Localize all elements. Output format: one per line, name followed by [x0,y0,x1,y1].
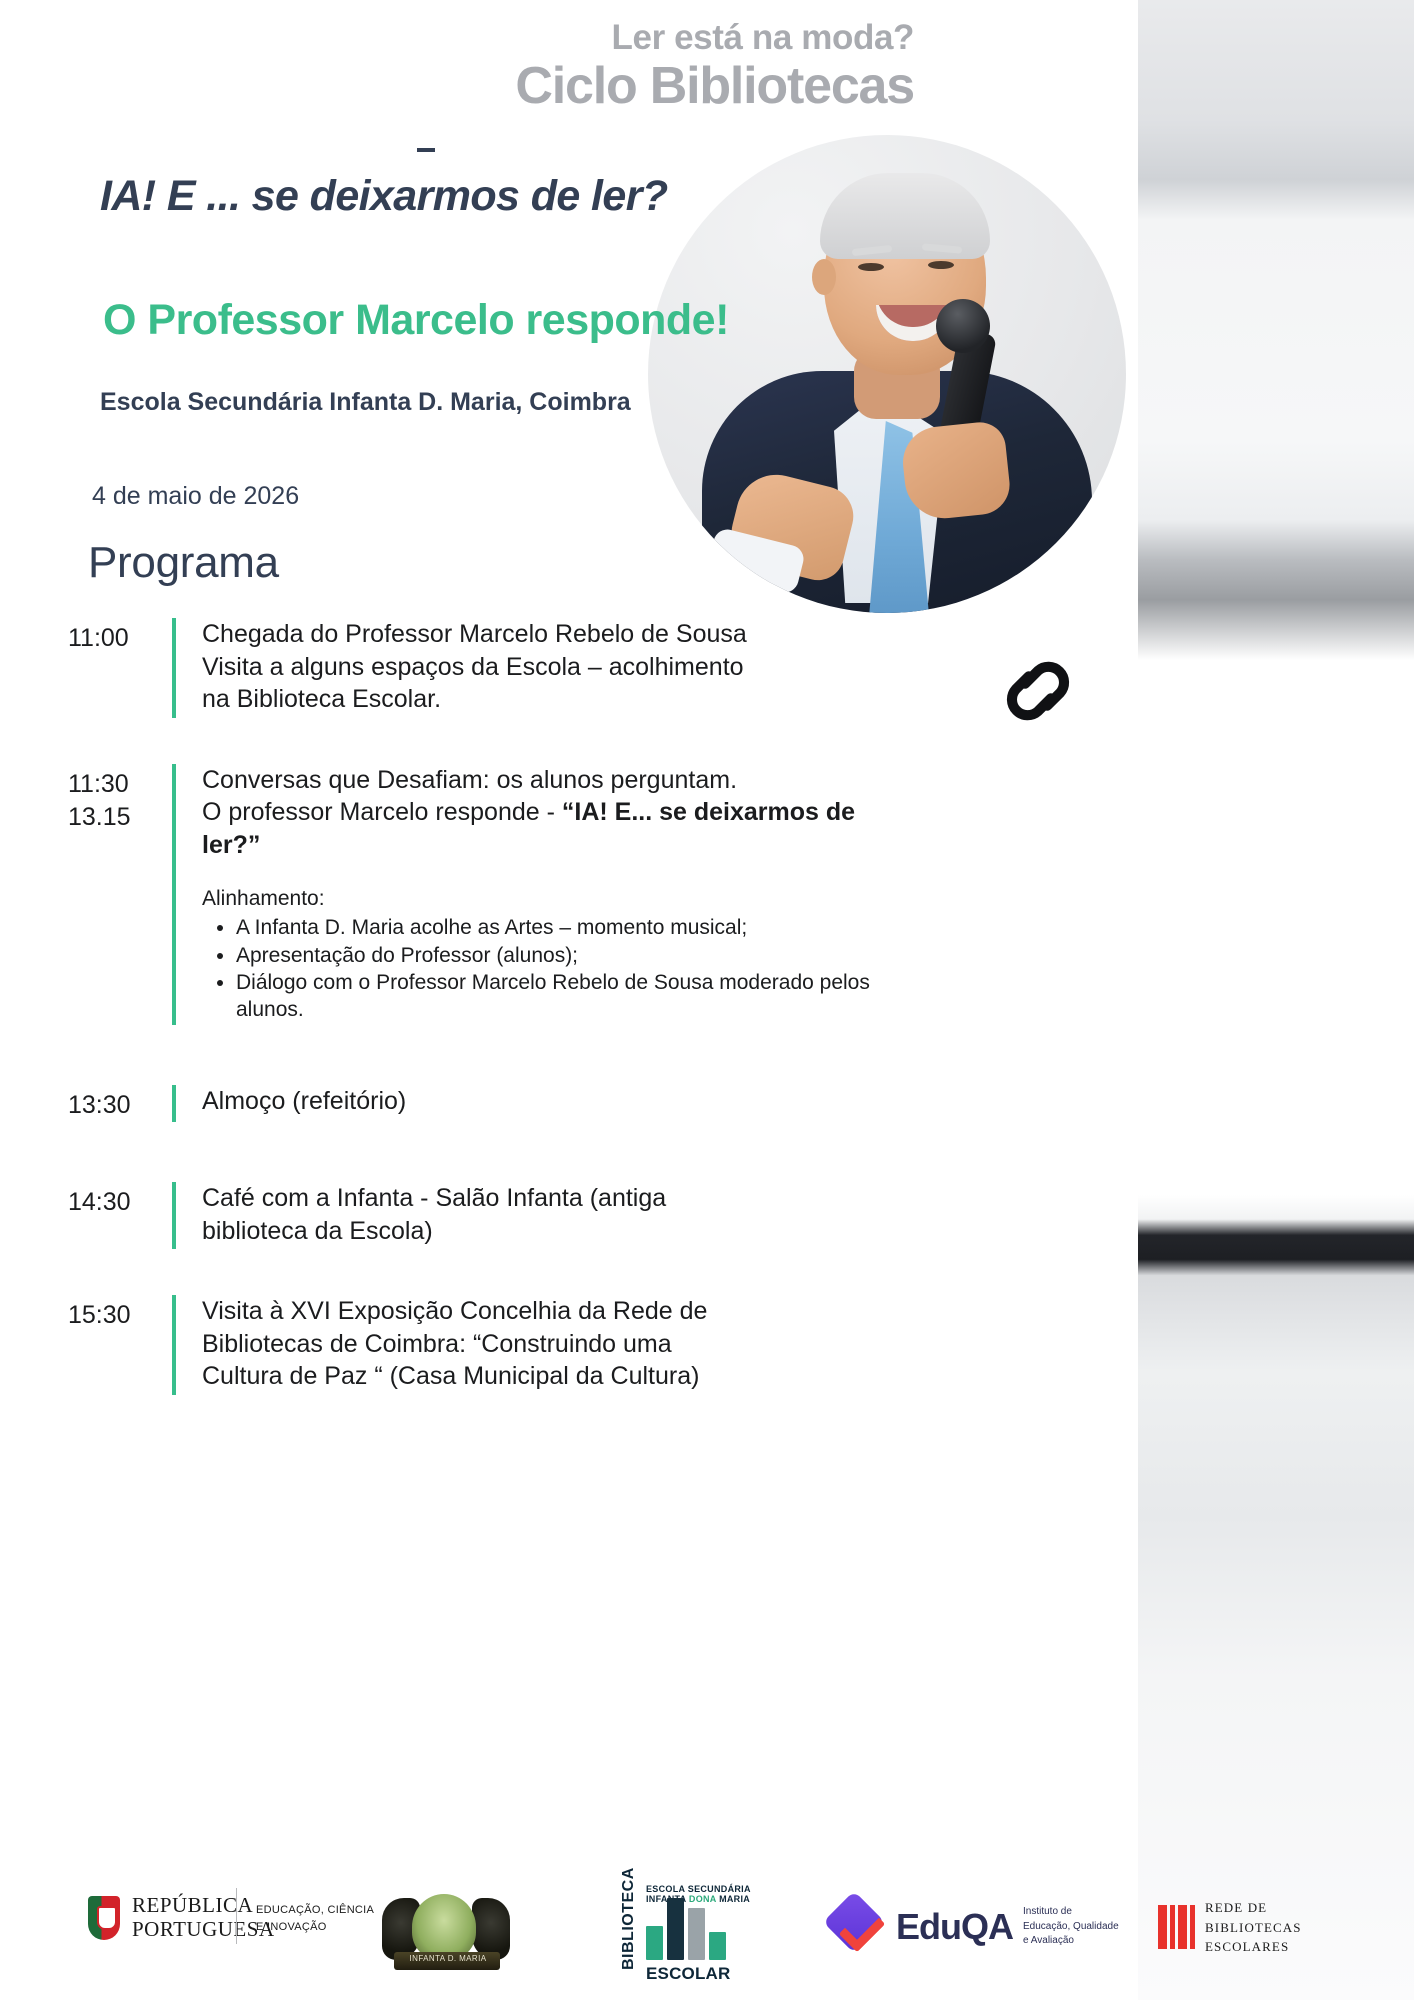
escolar-word: ESCOLAR [646,1964,731,1984]
series-kicker: Ler está na moda? [612,18,914,58]
venue-name: Escola Secundária Infanta D. Maria, Coim… [100,386,660,419]
schedule-time: 14:30 [60,1182,172,1219]
rbe-bar-4 [1190,1905,1195,1949]
schedule-time: 15:30 [60,1295,172,1332]
poster-accent-title: O Professor Marcelo responde! [103,296,729,345]
rbe-bar-3 [1178,1905,1187,1949]
schedule-description: Café com a Infanta - Salão Infanta (anti… [202,1182,910,1249]
schedule-line: biblioteca da Escola) [202,1215,910,1248]
crest-label: INFANTA D. MARIA [400,1954,496,1963]
republica-line2: PORTUGUESA [132,1918,275,1942]
eduqa-subtitle: Instituto de Educação, Qualidade e Avali… [1023,1905,1119,1949]
schedule-line: na Biblioteca Escolar. [202,683,910,716]
logo-school-crest: INFANTA D. MARIA [382,1886,512,1982]
portrait-hair [820,173,990,259]
schedule-time-start: 11:30 [68,768,172,801]
bar-3 [688,1908,705,1960]
rbe-mark-icon [1158,1905,1195,1949]
rbe-line3: ESCOLARES [1205,1937,1302,1957]
schedule-description: Chegada do Professor Marcelo Rebelo de S… [202,618,910,718]
schedule-row-1530: 15:30 Visita à XVI Exposição Concelhia d… [60,1295,910,1395]
list-item: Diálogo com o Professor Marcelo Rebelo d… [236,969,910,1024]
event-date: 4 de maio de 2026 [92,482,299,511]
ministry-line1: EDUCAÇÃO, CIÊNCIA [256,1902,374,1919]
timeline-bar [172,1182,176,1249]
program-schedule: 11:00 Chegada do Professor Marcelo Rebel… [60,618,910,1395]
alinhamento-list: A Infanta D. Maria acolhe as Artes – mom… [236,914,910,1023]
bar-1 [646,1926,663,1960]
footer-logos: REPÚBLICA PORTUGUESA EDUCAÇÃO, CIÊNCIA E… [0,1882,1414,2000]
schedule-line: Almoço (refeitório) [202,1085,910,1118]
schedule-spacer [60,718,910,764]
eduqa-sub2: Educação, Qualidade [1023,1920,1119,1935]
poster-main-title: IA! E ... se deixarmos de ler? [100,172,668,221]
rbe-bar-1 [1158,1905,1167,1949]
ministry-line2: E INOVAÇÃO [256,1919,374,1936]
schedule-row-1130: 11:30 13.15 Conversas que Desafiam: os a… [60,764,910,1026]
portrait-hand-right [899,420,1012,522]
eduqa-check-icon [828,1898,890,1956]
eduqa-sub3: e Avaliação [1023,1934,1119,1949]
timeline-bar [172,764,176,1026]
schedule-line: Bibliotecas de Coimbra: “Construindo uma [202,1328,910,1361]
rbe-wordmark: REDE DE BIBLIOTECAS ESCOLARES [1205,1898,1302,1957]
crest-dragon-right [472,1898,510,1960]
schedule-spacer [60,1122,910,1182]
list-item: A Infanta D. Maria acolhe as Artes – mom… [236,914,910,941]
series-title: Ciclo Bibliotecas [515,56,914,116]
portrait-eye-left [858,263,884,271]
schedule-line: Chegada do Professor Marcelo Rebelo de S… [202,618,910,651]
schedule-description: Conversas que Desafiam: os alunos pergun… [202,764,910,1026]
schedule-time: 11:30 13.15 [60,764,172,834]
poster-canvas: Ler está na moda? Ciclo Bibliotecas IA! … [0,0,1414,2000]
schedule-spacer [60,1025,910,1085]
speaker-portrait [648,135,1126,613]
logo-biblioteca-escolar: BIBLIOTECA ESCOLA SECUNDÁRIA INFANTA DON… [620,1884,780,1984]
logo-rede-bibliotecas-escolares: REDE DE BIBLIOTECAS ESCOLARES [1158,1898,1302,1957]
biblioteca-bars-icon [646,1898,726,1960]
schedule-row-1100: 11:00 Chegada do Professor Marcelo Rebel… [60,618,910,718]
schedule-description: Visita à XVI Exposição Concelhia da Rede… [202,1295,910,1395]
republica-line1: REPÚBLICA [132,1894,275,1918]
crest-shield [412,1894,476,1960]
schedule-line: Visita à XVI Exposição Concelhia da Rede… [202,1295,910,1328]
eduqa-sub1: Instituto de [1023,1905,1119,1920]
bar-2 [667,1898,684,1960]
schedule-row-1330: 13:30 Almoço (refeitório) [60,1085,910,1122]
portugal-shield-icon [88,1896,120,1940]
rbe-line2: BIBLIOTECAS [1205,1918,1302,1938]
biblioteca-school-name: ESCOLA SECUNDÁRIA [646,1884,751,1894]
eduqa-wordmark: EduQA [896,1906,1013,1948]
program-heading: Programa [88,538,279,588]
logo-republica-portuguesa: REPÚBLICA PORTUGUESA [88,1894,275,1941]
schedule-line-quote: O professor Marcelo responde - “IA! E...… [202,796,910,861]
link-chain-icon [992,645,1084,737]
timeline-bar [172,618,176,718]
schedule-line: Visita a alguns espaços da Escola – acol… [202,651,910,684]
biblioteca-vertical-word: BIBLIOTECA [620,1884,640,1970]
bar-4 [709,1932,726,1960]
schedule-line: Café com a Infanta - Salão Infanta (anti… [202,1182,910,1215]
background-photo-strip-bottom [1138,1195,1414,2000]
schedule-line-prefix: O professor Marcelo responde - [202,798,562,826]
schedule-time-end: 13.15 [68,801,172,834]
timeline-bar [172,1085,176,1122]
schedule-spacer [60,1249,910,1295]
schedule-time: 13:30 [60,1085,172,1122]
rbe-bar-2 [1170,1905,1175,1949]
portrait-eye-right [928,261,954,269]
rbe-line1: REDE DE [1205,1898,1302,1918]
title-dash-mark [417,148,435,152]
timeline-bar [172,1295,176,1395]
ministry-subtitle: EDUCAÇÃO, CIÊNCIA E INOVAÇÃO [256,1902,374,1935]
logo-eduqa: EduQA Instituto de Educação, Qualidade e… [828,1898,1119,1956]
schedule-description: Almoço (refeitório) [202,1085,910,1120]
schedule-time: 11:00 [60,618,172,655]
schedule-line: Conversas que Desafiam: os alunos pergun… [202,764,910,797]
list-item: Apresentação do Professor (alunos); [236,942,910,969]
alinhamento-label: Alinhamento: [202,885,910,912]
logo-divider [236,1888,237,1944]
portrait-ear [812,259,836,295]
schedule-line: Cultura de Paz “ (Casa Municipal da Cult… [202,1360,910,1393]
republica-wordmark: REPÚBLICA PORTUGUESA [132,1894,275,1941]
schedule-row-1430: 14:30 Café com a Infanta - Salão Infanta… [60,1182,910,1249]
